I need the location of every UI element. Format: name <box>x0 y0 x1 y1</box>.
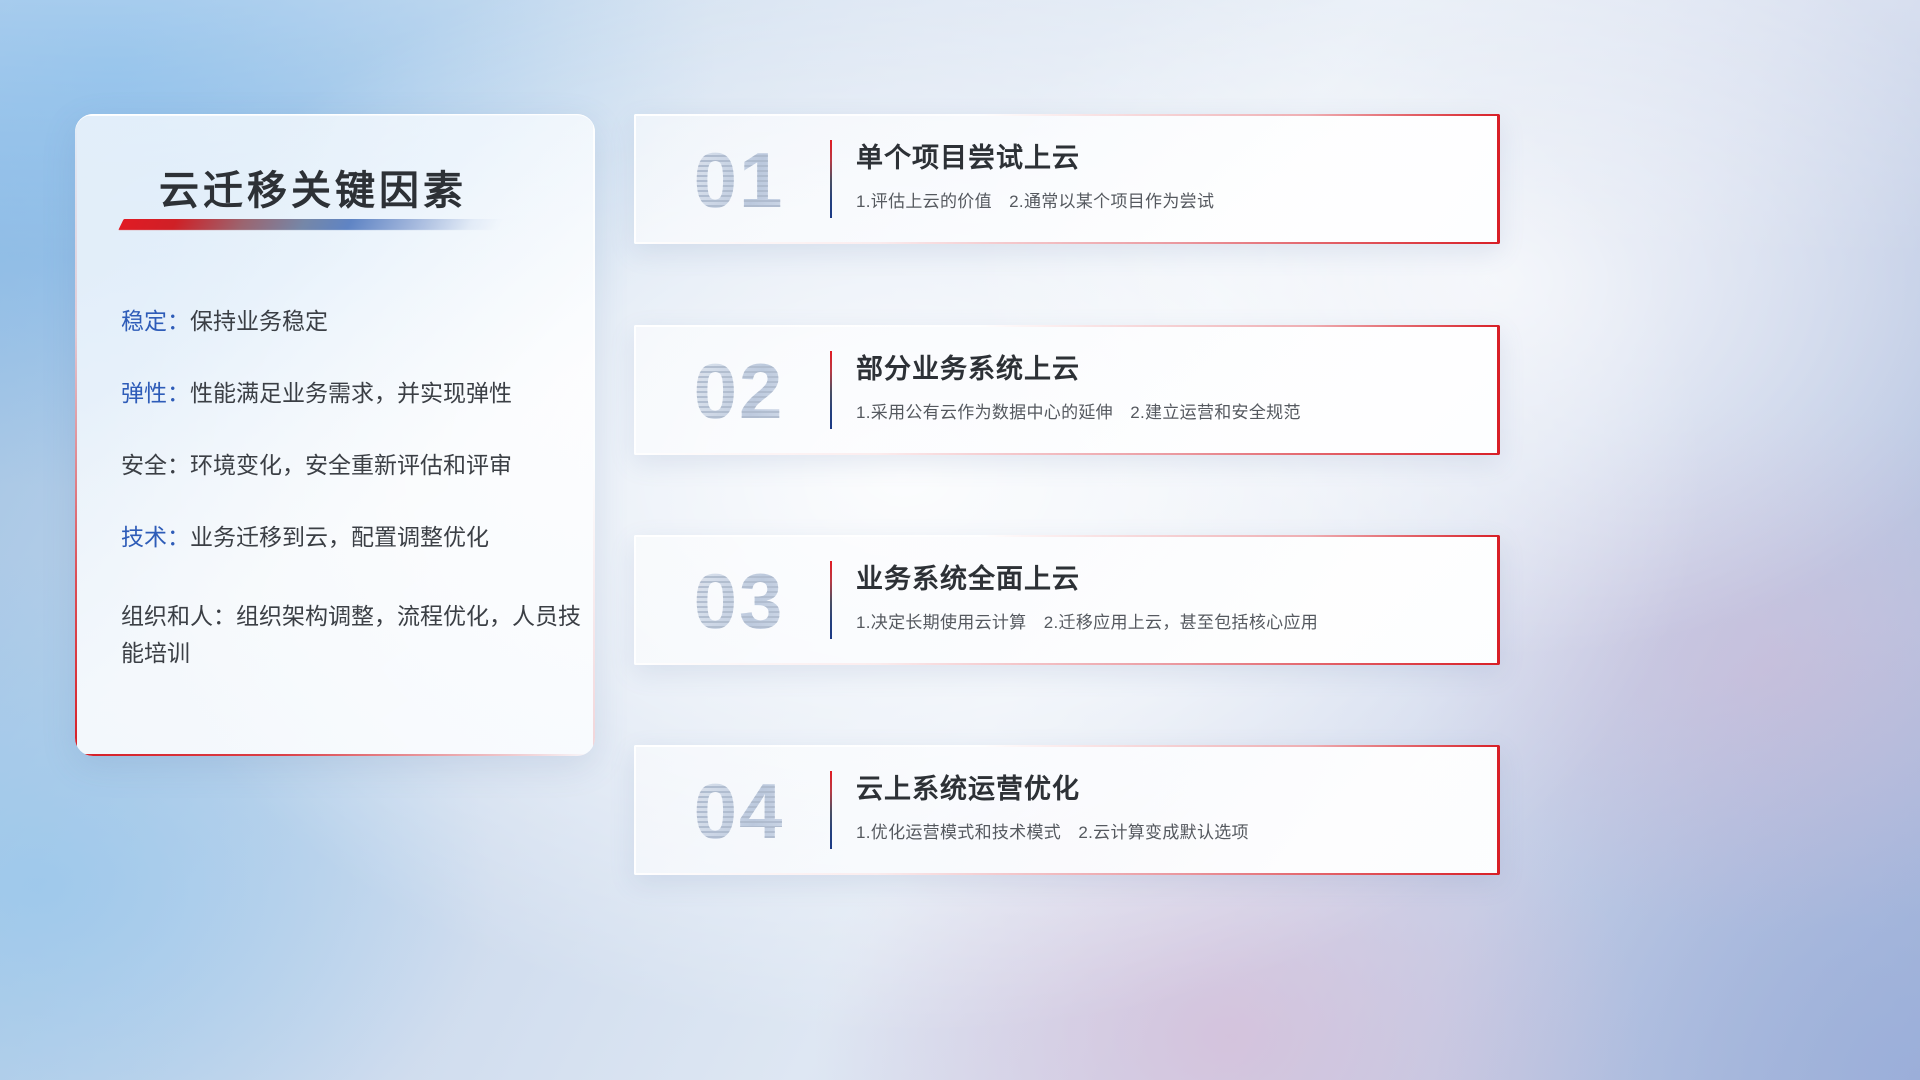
factor-item-security: 安全：环境变化，安全重新评估和评审 <box>121 454 591 477</box>
step-divider-bar <box>830 140 832 218</box>
step-divider-bar <box>830 351 832 429</box>
card-edge-left <box>634 325 636 455</box>
factor-list: 稳定：保持业务稳定 弹性：性能满足业务需求，并实现弹性 安全：环境变化，安全重新… <box>121 310 591 673</box>
step-card-02[interactable]: 02 部分业务系统上云 1.采用公有云作为数据中心的延伸 2.建立运营和安全规范 <box>634 325 1500 455</box>
card-edge-top <box>634 325 1500 327</box>
card-edge-right-red <box>1497 114 1500 244</box>
step-description-03: 1.决定长期使用云计算 2.迁移应用上云，甚至包括核心应用 <box>856 608 1318 633</box>
step-description-02: 1.采用公有云作为数据中心的延伸 2.建立运营和安全规范 <box>856 398 1301 423</box>
card-edge-right-red <box>1497 745 1500 875</box>
panel-edge-top <box>75 114 595 116</box>
title-underline-accent <box>118 219 503 230</box>
step-title-03: 业务系统全面上云 <box>856 557 1080 596</box>
card-edge-bottom-red <box>634 663 1500 665</box>
step-description-04: 1.优化运营模式和技术模式 2.云计算变成默认选项 <box>856 818 1249 843</box>
step-title-02: 部分业务系统上云 <box>856 347 1080 386</box>
card-edge-top <box>634 745 1500 747</box>
panel-edge-right <box>593 114 595 756</box>
step-number-01: 01 <box>664 130 814 230</box>
step-card-04[interactable]: 04 云上系统运营优化 1.优化运营模式和技术模式 2.云计算变成默认选项 <box>634 745 1500 875</box>
step-number-04: 04 <box>664 761 814 861</box>
step-card-03[interactable]: 03 业务系统全面上云 1.决定长期使用云计算 2.迁移应用上云，甚至包括核心应… <box>634 535 1500 665</box>
card-edge-right-red <box>1497 325 1500 455</box>
card-edge-top <box>634 535 1500 537</box>
key-factors-panel: 云迁移关键因素 稳定：保持业务稳定 弹性：性能满足业务需求，并实现弹性 安全：环… <box>75 114 595 756</box>
factor-value: 环境变化，安全重新评估和评审 <box>190 452 512 478</box>
factor-item-stability: 稳定：保持业务稳定 <box>121 310 591 333</box>
step-title-04: 云上系统运营优化 <box>856 767 1080 806</box>
card-edge-bottom-red <box>634 453 1500 455</box>
card-edge-left <box>634 745 636 875</box>
step-divider-bar <box>830 561 832 639</box>
step-number-02: 02 <box>664 341 814 441</box>
panel-edge-left-red <box>75 114 77 756</box>
factor-item-technology: 技术：业务迁移到云，配置调整优化 <box>121 526 591 549</box>
card-edge-right-red <box>1497 535 1500 665</box>
factor-key: 稳定： <box>121 308 190 334</box>
factor-key: 安全： <box>121 452 190 478</box>
card-edge-left <box>634 535 636 665</box>
card-edge-top <box>634 114 1500 116</box>
step-card-01[interactable]: 01 单个项目尝试上云 1.评估上云的价值 2.通常以某个项目作为尝试 <box>634 114 1500 244</box>
card-edge-bottom-red <box>634 242 1500 244</box>
factor-key: 弹性： <box>121 380 190 406</box>
factor-value: 业务迁移到云，配置调整优化 <box>190 524 489 550</box>
card-edge-left <box>634 114 636 244</box>
factor-key: 组织和人： <box>121 603 236 629</box>
step-divider-bar <box>830 771 832 849</box>
factor-value: 保持业务稳定 <box>190 308 328 334</box>
factor-item-elasticity: 弹性：性能满足业务需求，并实现弹性 <box>121 382 591 405</box>
card-edge-bottom-red <box>634 873 1500 875</box>
step-number-03: 03 <box>664 551 814 651</box>
page-title: 云迁移关键因素 <box>159 158 559 216</box>
factor-key: 技术： <box>121 524 190 550</box>
factor-value: 性能满足业务需求，并实现弹性 <box>190 380 512 406</box>
step-description-01: 1.评估上云的价值 2.通常以某个项目作为尝试 <box>856 187 1214 212</box>
panel-edge-bottom-red <box>75 754 595 756</box>
step-title-01: 单个项目尝试上云 <box>856 136 1080 175</box>
factor-item-organization: 组织和人：组织架构调整，流程优化，人员技能培训 <box>121 598 591 673</box>
